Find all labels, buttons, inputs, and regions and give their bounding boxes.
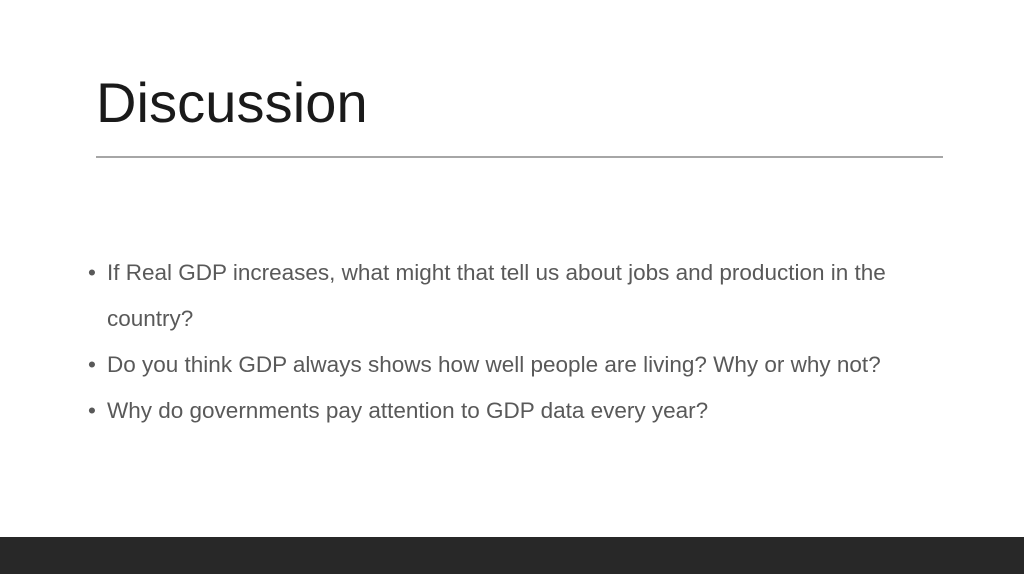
list-item: • Why do governments pay attention to GD… [88,388,928,434]
presentation-slide: Discussion • If Real GDP increases, what… [0,0,1024,574]
list-item: • If Real GDP increases, what might that… [88,250,928,342]
list-item-label: If Real GDP increases, what might that t… [107,260,886,331]
list-item-label: Do you think GDP always shows how well p… [107,352,881,377]
bullet-point-icon: • [88,250,96,296]
slide-body-block: • If Real GDP increases, what might that… [88,250,928,434]
list-item: • Do you think GDP always shows how well… [88,342,928,388]
bullet-list: • If Real GDP increases, what might that… [88,250,928,434]
slide-footer-band [0,537,1024,574]
list-item-label: Why do governments pay attention to GDP … [107,398,708,423]
page-title: Discussion [96,74,944,133]
bullet-point-icon: • [88,342,96,388]
slide-title-block: Discussion [96,74,944,133]
bullet-point-icon: • [88,388,96,434]
title-divider-rule [96,156,943,158]
